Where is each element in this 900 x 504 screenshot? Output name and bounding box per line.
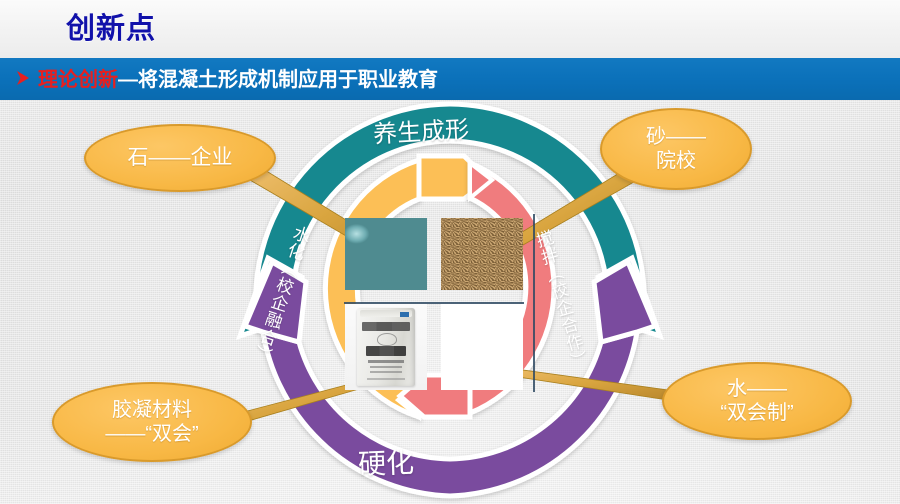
- swan-logo-icon: [377, 333, 397, 346]
- quadrant-divider-horizontal: [344, 302, 524, 304]
- bag-brand-line-1: [362, 322, 410, 331]
- bag-text-line-5: [370, 371, 402, 373]
- sand-texture: [441, 218, 523, 290]
- center-quadrant-images: [345, 218, 523, 390]
- bag-text-line-6: [367, 378, 405, 380]
- callout-sand[interactable]: 砂—— 院校: [600, 108, 752, 190]
- callout-stone-label: 石——企业: [128, 145, 233, 171]
- callout-water[interactable]: 水—— “双会制”: [662, 362, 852, 440]
- stone-photo: [345, 218, 427, 290]
- bag-text-line-3: [368, 360, 404, 363]
- water-photo: [441, 304, 523, 390]
- cement-bag-photo: [345, 304, 427, 390]
- cement-bag: [357, 308, 415, 386]
- purple-arrowhead-right: [594, 262, 655, 342]
- stone-texture: [345, 218, 427, 290]
- callout-cement[interactable]: 胶凝材料 ——“双会”: [52, 382, 252, 462]
- purple-arrowhead-left: [245, 262, 306, 342]
- sand-photo: [441, 218, 523, 290]
- callout-water-label: 水—— “双会制”: [720, 377, 793, 426]
- callout-sand-label: 砂—— 院校: [646, 125, 706, 174]
- cement-bag-background: [345, 304, 427, 390]
- callout-stone[interactable]: 石——企业: [84, 124, 276, 192]
- bag-blue-tab: [400, 312, 409, 317]
- bag-text-line-4: [370, 366, 402, 368]
- callout-cement-label: 胶凝材料 ——“双会”: [105, 398, 198, 447]
- water-icon-background: [441, 304, 523, 390]
- quadrant-divider-vertical: [533, 214, 535, 392]
- slide-canvas: 创新点 理论创新—将混凝土形成机制应用于职业教育: [0, 0, 900, 504]
- bag-brand-line-2: [366, 346, 406, 356]
